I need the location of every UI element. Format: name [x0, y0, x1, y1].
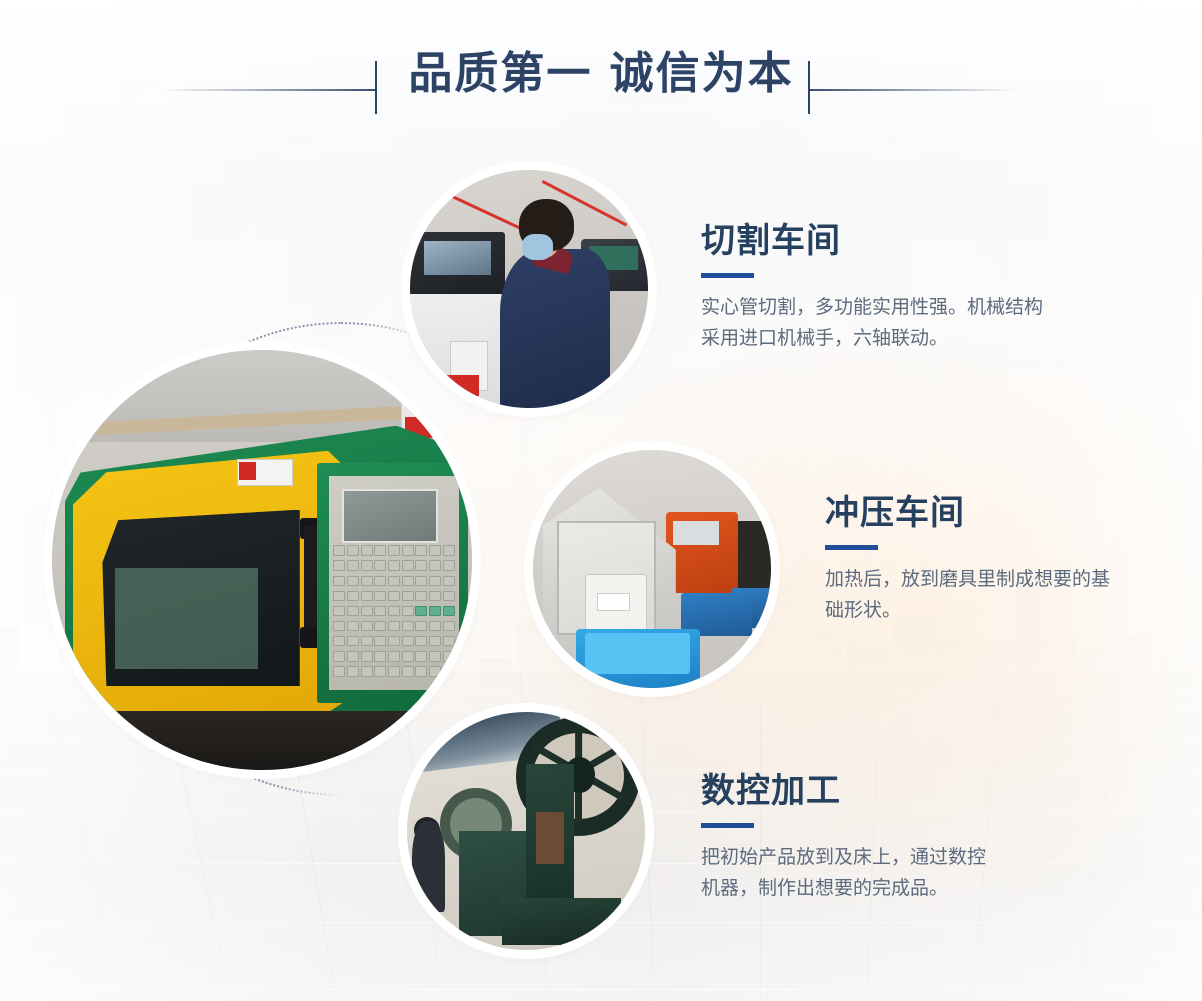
machine-keypad-key [347, 636, 359, 646]
poster-canvas: 品质第一 诚信为本 [0, 0, 1202, 1001]
photo-circle-cutting[interactable] [410, 170, 648, 408]
machine-keypad-key [333, 560, 345, 570]
machine-keypad-key [388, 591, 400, 601]
photo-circle-cnc[interactable] [407, 712, 645, 950]
cutting-cnc-screen [424, 241, 491, 274]
page-title: 品质第一 诚信为本 [0, 52, 1202, 96]
machine-keypad-key [429, 560, 441, 570]
machine-keypad-key [429, 576, 441, 586]
machine-keypad-key [361, 636, 373, 646]
machine-keypad-key [388, 636, 400, 646]
machine-keypad-key [333, 651, 345, 661]
machine-keypad-key [388, 576, 400, 586]
machine-keypad-key [361, 545, 373, 555]
machine-keypad-key-green [443, 606, 455, 616]
machine-keypad-key [429, 621, 441, 631]
machine-keypad-key [361, 606, 373, 616]
machine-keypad-key [347, 606, 359, 616]
machine-keypad-key [443, 636, 455, 646]
machine-keypad-key [347, 591, 359, 601]
machine-keypad-key [361, 576, 373, 586]
machine-keypad-key [443, 576, 455, 586]
machine-keypad-key [388, 621, 400, 631]
machine-keypad-key [429, 651, 441, 661]
machine-keypad-key [402, 651, 414, 661]
machine-glass-panel [115, 568, 258, 669]
machine-keypad-key [347, 651, 359, 661]
machine-keypad-key [374, 576, 386, 586]
cnc-photo [407, 712, 645, 950]
machine-warning-red-mark [239, 462, 256, 480]
machine-keypad-key [415, 666, 427, 676]
cutting-red-badge [443, 375, 479, 396]
machine-keypad-key [415, 545, 427, 555]
machine-keypad-key [361, 621, 373, 631]
machine-keypad-key-green [429, 606, 441, 616]
cnc-press-table [502, 898, 621, 946]
photo-circle-stamping[interactable] [533, 450, 771, 688]
machine-keypad-key [388, 606, 400, 616]
machine-keypad-key [374, 545, 386, 555]
machine-keypad-key [429, 591, 441, 601]
machine-keypad-key [347, 666, 359, 676]
machine-keypad-key [415, 636, 427, 646]
cutting-photo [410, 170, 648, 408]
cnc-worker [412, 821, 445, 911]
machine-keypad-key [361, 651, 373, 661]
machine-keypad-key [374, 621, 386, 631]
machine-keypad-key [374, 560, 386, 570]
section-cutting: 切割车间 实心管切割，多功能实用性强。机械结构 采用进口机械手，六轴联动。 [701, 222, 1043, 354]
machine-keypad-key [415, 560, 427, 570]
section-stamping-body: 加热后，放到磨具里制成想要的基 础形状。 [825, 564, 1110, 626]
section-cutting-body: 实心管切割，多功能实用性强。机械结构 采用进口机械手，六轴联动。 [701, 292, 1043, 354]
section-stamping-heading: 冲压车间 [825, 494, 1110, 532]
machine-keypad-key [333, 666, 345, 676]
hero-photo-circle[interactable] [52, 350, 472, 770]
machine-keypad-key [443, 545, 455, 555]
machine-keypad-key [333, 576, 345, 586]
machine-keypad-key [415, 576, 427, 586]
section-stamping-underline [825, 545, 878, 550]
machine-keypad-key [388, 651, 400, 661]
machine-keypad-key [415, 651, 427, 661]
machine-keypad-key [333, 591, 345, 601]
machine-keypad-key [347, 621, 359, 631]
machine-keypad-key [415, 591, 427, 601]
machine-keypad-key [388, 545, 400, 555]
stamping-blue-bin-interior [585, 633, 690, 673]
machine-keypad-key [333, 636, 345, 646]
machine-keypad-key [429, 666, 441, 676]
machine-keypad-key [402, 576, 414, 586]
section-cutting-heading: 切割车间 [701, 222, 1043, 260]
machine-keypad-key [333, 545, 345, 555]
machine-keypad-key [361, 666, 373, 676]
machine-keypad-key [429, 545, 441, 555]
machine-keypad-key [347, 560, 359, 570]
section-cnc-heading: 数控加工 [701, 772, 986, 810]
page-header: 品质第一 诚信为本 [0, 0, 1202, 160]
machine-keypad-key [374, 606, 386, 616]
cutting-worker-mask [522, 234, 553, 260]
machine-keypad-key [361, 591, 373, 601]
hero-photo [52, 350, 472, 770]
section-cnc-underline [701, 823, 754, 828]
machine-keypad-key [443, 621, 455, 631]
machine-keypad-key [402, 606, 414, 616]
section-cnc-body: 把初始产品放到及床上，通过数控 机器，制作出想要的完成品。 [701, 842, 986, 904]
machine-keypad-key [443, 666, 455, 676]
cnc-press-ram [536, 812, 565, 864]
machine-keypad-key [415, 621, 427, 631]
machine-keypad-key [402, 560, 414, 570]
machine-keypad-key [443, 591, 455, 601]
machine-keypad-key [333, 621, 345, 631]
machine-keypad-key [347, 545, 359, 555]
stamping-hazard-label [597, 593, 630, 612]
machine-keypad-key [374, 636, 386, 646]
machine-control-screen [342, 489, 438, 543]
machine-keypad-key [374, 591, 386, 601]
cutting-worker-body [500, 249, 609, 408]
machine-keypad-key [402, 636, 414, 646]
machine-keypad-key [388, 666, 400, 676]
machine-keypad-key [402, 666, 414, 676]
machine-keypad-key [402, 621, 414, 631]
section-cutting-underline [701, 273, 754, 278]
stamping-orange-panel [673, 521, 718, 545]
machine-keypad-key [429, 636, 441, 646]
machine-keypad-key [402, 591, 414, 601]
machine-keypad-key [347, 576, 359, 586]
section-cnc: 数控加工 把初始产品放到及床上，通过数控 机器，制作出想要的完成品。 [701, 772, 986, 904]
machine-keypad-key [402, 545, 414, 555]
machine-keypad-key [374, 666, 386, 676]
machine-keypad-key [443, 560, 455, 570]
machine-keypad-key [374, 651, 386, 661]
machine-keypad-key [443, 651, 455, 661]
machine-keypad-key-green [415, 606, 427, 616]
stamping-photo [533, 450, 771, 688]
machine-keypad-key [388, 560, 400, 570]
section-stamping: 冲压车间 加热后，放到磨具里制成想要的基 础形状。 [825, 494, 1110, 626]
machine-keypad-key [333, 606, 345, 616]
machine-keypad-key [361, 560, 373, 570]
